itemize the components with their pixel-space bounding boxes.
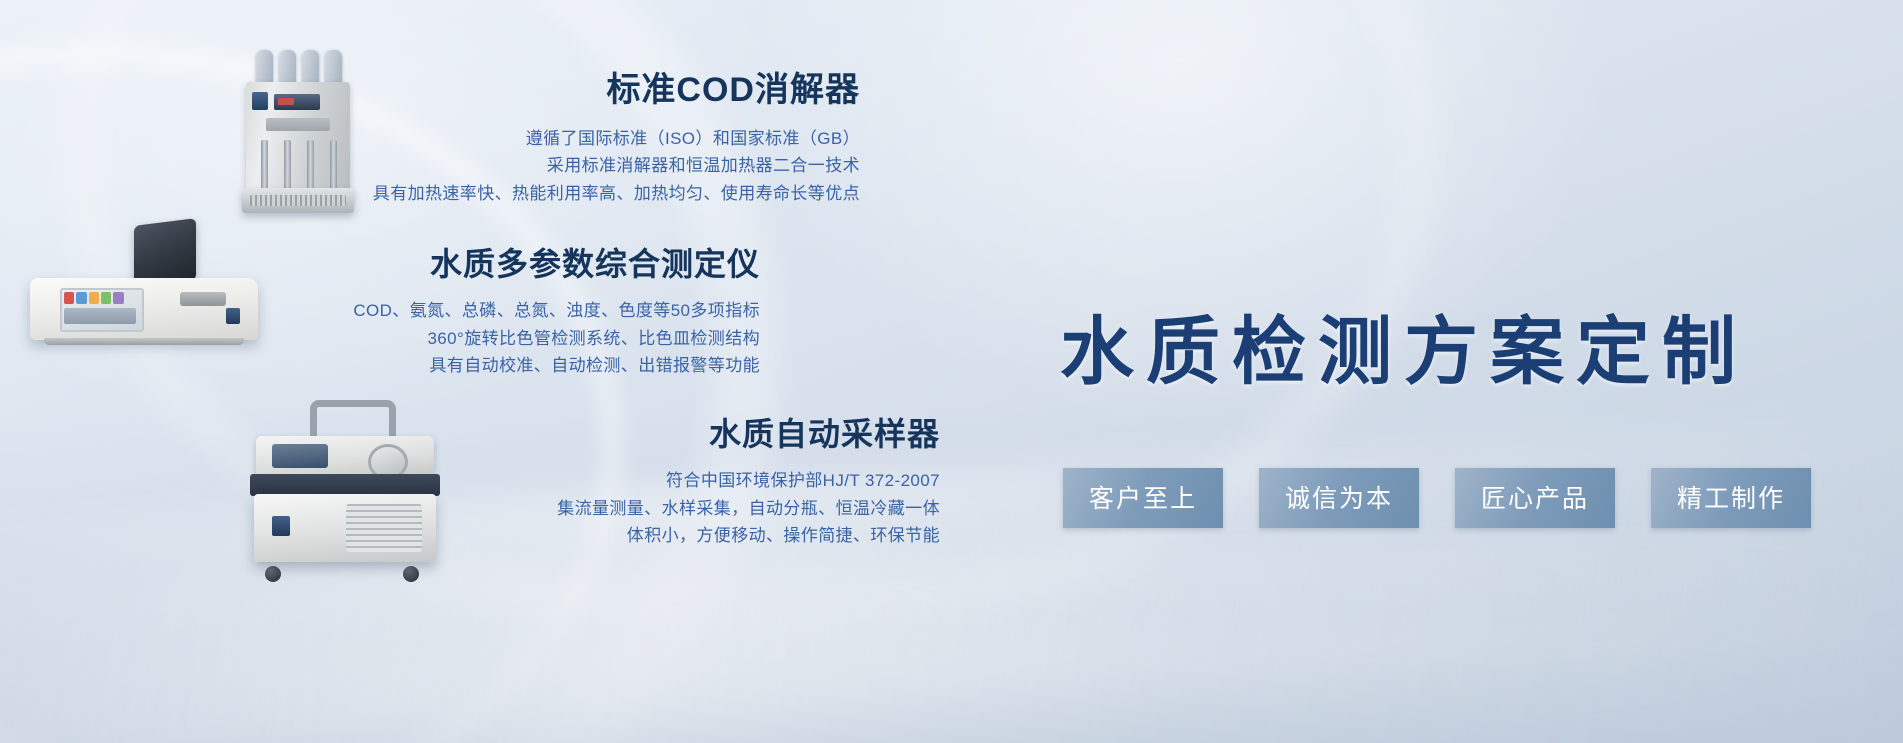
keypad-key — [64, 292, 74, 304]
product-desc-line: 体积小，方便移动、操作简捷、环保节能 — [320, 522, 940, 550]
promo-banner: 标准COD消解器 遵循了国际标准（ISO）和国家标准（GB） 采用标准消解器和恒… — [0, 0, 1903, 743]
keypad-key — [89, 292, 99, 304]
product-title-cod: 标准COD消解器 — [240, 70, 860, 111]
product-desc-line: COD、氨氮、总磷、总氮、浊度、色度等50多项指标 — [140, 297, 760, 325]
keypad-key — [101, 292, 111, 304]
product-desc-line: 采用标准消解器和恒温加热器二合一技术 — [240, 152, 860, 180]
product-desc-line: 符合中国环境保护部HJ/T 372-2007 — [320, 467, 940, 495]
product-title-sampler: 水质自动采样器 — [320, 415, 940, 453]
product-title-multiparameter: 水质多参数综合测定仪 — [140, 245, 760, 283]
product-block-multiparameter: 水质多参数综合测定仪 COD、氨氮、总磷、总氮、浊度、色度等50多项指标 360… — [140, 245, 760, 380]
brand-logo-icon — [272, 516, 290, 536]
badge-integrity[interactable]: 诚信为本 — [1259, 468, 1419, 528]
product-desc-line: 具有加热速率快、热能利用率高、加热均匀、使用寿命长等优点 — [240, 180, 860, 208]
product-block-cod: 标准COD消解器 遵循了国际标准（ISO）和国家标准（GB） 采用标准消解器和恒… — [240, 70, 860, 207]
keypad-key — [113, 292, 123, 304]
product-desc-line: 具有自动校准、自动检测、出错报警等功能 — [140, 352, 760, 380]
product-description-sampler: 符合中国环境保护部HJ/T 372-2007 集流量测量、水样采集，自动分瓶、恒… — [320, 467, 940, 550]
caster-wheel — [264, 560, 284, 582]
product-desc-line: 360°旋转比色管检测系统、比色皿检测结构 — [140, 325, 760, 353]
badge-craftsmanship[interactable]: 匠心产品 — [1455, 468, 1615, 528]
analyzer-keypad — [64, 292, 136, 306]
banner-headline: 水质检测方案定制 — [1060, 292, 1748, 399]
product-description-cod: 遵循了国际标准（ISO）和国家标准（GB） 采用标准消解器和恒温加热器二合一技术… — [240, 125, 860, 208]
badge-row: 客户至上 诚信为本 匠心产品 精工制作 — [1063, 468, 1811, 528]
keypad-key — [126, 292, 136, 304]
product-desc-line: 遵循了国际标准（ISO）和国家标准（GB） — [240, 125, 860, 153]
badge-fine-manufacturing[interactable]: 精工制作 — [1651, 468, 1811, 528]
product-block-sampler: 水质自动采样器 符合中国环境保护部HJ/T 372-2007 集流量测量、水样采… — [320, 415, 940, 550]
badge-customer-first[interactable]: 客户至上 — [1063, 468, 1223, 528]
keypad-key — [76, 292, 86, 304]
product-description-multiparameter: COD、氨氮、总磷、总氮、浊度、色度等50多项指标 360°旋转比色管检测系统、… — [140, 297, 760, 380]
caster-wheel — [402, 560, 422, 582]
analyzer-display — [64, 308, 136, 324]
product-desc-line: 集流量测量、水样采集，自动分瓶、恒温冷藏一体 — [320, 495, 940, 523]
